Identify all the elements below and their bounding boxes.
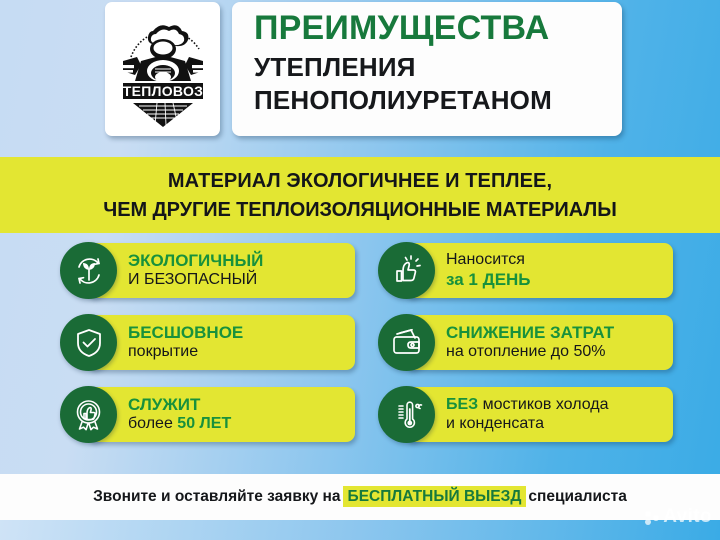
benefit-line-2-strong: 50 ЛЕТ [177, 415, 231, 432]
benefit-line-1-strong: БЕЗ [446, 396, 478, 413]
benefit-line-2: И БЕЗОПАСНЫЙ [128, 271, 347, 290]
thermometer-celsius-icon [378, 386, 435, 443]
benefits-column-left: ЭКОЛОГИЧНЫЙ И БЕЗОПАСНЫЙ БЕСШОВНОЕ покры… [60, 243, 355, 459]
footer-prefix: Звоните и оставляйте заявку на [93, 488, 340, 505]
benefit-line-2-prefix: более [128, 415, 177, 432]
benefit-line-2: более 50 ЛЕТ [128, 415, 347, 434]
benefits-column-right: Наносится за 1 ДЕНЬ СНИЖЕНИЕ ЗАТРАТ [378, 243, 673, 459]
respirator-worker-logo-icon: ТЕПЛОВОЗ [113, 9, 213, 129]
banner-line-1: МАТЕРИАЛ ЭКОЛОГИЧНЕЕ И ТЕПЛЕЕ, [168, 171, 552, 191]
benefit-card-one-day: Наносится за 1 ДЕНЬ [378, 243, 673, 298]
award-thumbsup-icon [60, 386, 117, 443]
benefits-grid: ЭКОЛОГИЧНЫЙ И БЕЗОПАСНЫЙ БЕСШОВНОЕ покры… [0, 243, 720, 469]
headline-banner: МАТЕРИАЛ ЭКОЛОГИЧНЕЕ И ТЕПЛЕЕ, ЧЕМ ДРУГИ… [0, 157, 720, 233]
benefit-line-2: покрытие [128, 343, 347, 362]
title-line-1: ПРЕИМУЩЕСТВА [254, 11, 622, 45]
wallet-money-icon [378, 314, 435, 371]
shield-check-icon [60, 314, 117, 371]
benefit-card-seamless: БЕСШОВНОЕ покрытие [60, 315, 355, 370]
card-text: СЛУЖИТ более 50 ЛЕТ [128, 387, 347, 442]
card-text: ЭКОЛОГИЧНЫЙ И БЕЗОПАСНЫЙ [128, 243, 347, 298]
benefit-card-no-cold-bridges: БЕЗ мостиков холода и конденсата [378, 387, 673, 442]
card-text: БЕЗ мостиков холода и конденсата [446, 387, 665, 442]
benefit-card-cost-saving: СНИЖЕНИЕ ЗАТРАТ на отопление до 50% [378, 315, 673, 370]
banner-line-2: ЧЕМ ДРУГИЕ ТЕПЛОИЗОЛЯЦИОННЫЕ МАТЕРИАЛЫ [103, 200, 616, 220]
poster-footer: Звоните и оставляйте заявку наБЕСПЛАТНЫЙ… [0, 474, 720, 520]
thumbs-up-sparkle-icon [378, 242, 435, 299]
header-title-card: ПРЕИМУЩЕСТВА УТЕПЛЕНИЯ ПЕНОПОЛИУРЕТАНОМ [232, 2, 622, 136]
svg-text:ТЕПЛОВОЗ: ТЕПЛОВОЗ [122, 83, 203, 99]
promotional-poster: ТЕПЛОВОЗ ПРЕИМУЩЕСТВА УТЕПЛЕНИЯ ПЕНОПОЛИ… [0, 0, 720, 540]
title-line-3: ПЕНОПОЛИУРЕТАНОМ [254, 87, 622, 113]
card-text: БЕСШОВНОЕ покрытие [128, 315, 347, 370]
footer-highlight: БЕСПЛАТНЫЙ ВЫЕЗД [343, 486, 527, 507]
benefit-line-1: БЕЗ мостиков холода [446, 396, 665, 415]
benefit-line-2: и конденсата [446, 415, 665, 434]
benefit-line-1: СЛУЖИТ [128, 395, 347, 415]
eco-leaf-recycle-icon [60, 242, 117, 299]
benefit-line-1-rest: мостиков холода [478, 396, 608, 413]
poster-header: ТЕПЛОВОЗ ПРЕИМУЩЕСТВА УТЕПЛЕНИЯ ПЕНОПОЛИ… [0, 0, 720, 157]
bottom-strip [0, 520, 720, 540]
benefit-line-2: на отопление до 50% [446, 343, 665, 362]
footer-suffix: специалиста [528, 488, 627, 505]
benefit-line-2: за 1 ДЕНЬ [446, 270, 665, 290]
title-line-2: УТЕПЛЕНИЯ [254, 54, 622, 80]
benefit-line-1: Наносится [446, 251, 665, 270]
benefit-card-lifespan: СЛУЖИТ более 50 ЛЕТ [60, 387, 355, 442]
benefit-line-1: БЕСШОВНОЕ [128, 323, 347, 343]
brand-logo-card: ТЕПЛОВОЗ [105, 2, 220, 136]
benefit-card-eco: ЭКОЛОГИЧНЫЙ И БЕЗОПАСНЫЙ [60, 243, 355, 298]
benefit-line-1: ЭКОЛОГИЧНЫЙ [128, 251, 347, 271]
card-text: Наносится за 1 ДЕНЬ [446, 243, 665, 298]
footer-call-to-action: Звоните и оставляйте заявку наБЕСПЛАТНЫЙ… [93, 488, 627, 506]
card-text: СНИЖЕНИЕ ЗАТРАТ на отопление до 50% [446, 315, 665, 370]
benefit-line-1: СНИЖЕНИЕ ЗАТРАТ [446, 323, 665, 343]
